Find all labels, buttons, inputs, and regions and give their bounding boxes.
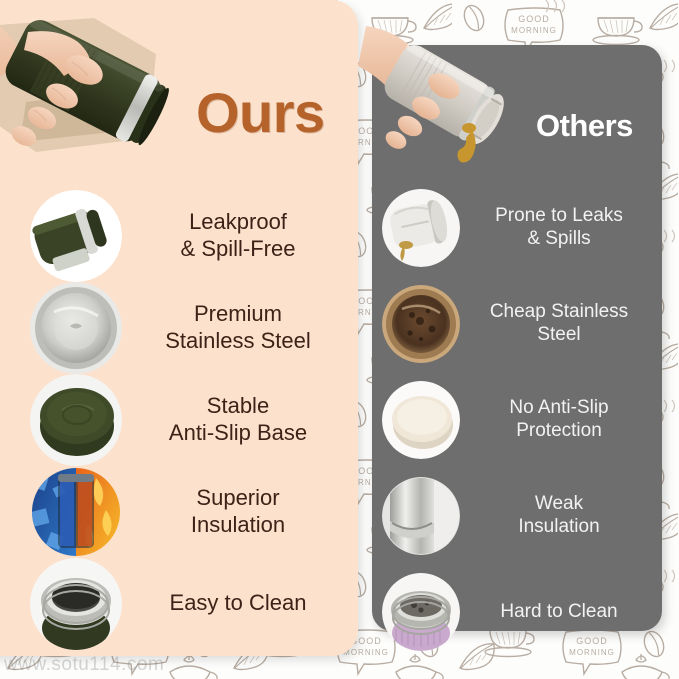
- feature-label: Stable Anti-Slip Base: [122, 393, 350, 446]
- stainless-steel-interior-thumb: [30, 282, 122, 374]
- feature-row: Easy to Clean: [30, 561, 350, 646]
- feature-label: Hard to Clean: [460, 601, 652, 624]
- thin-steel-wall-thumb: [382, 477, 460, 555]
- green-anti-slip-base-thumb: [30, 374, 122, 466]
- others-title: Others: [536, 108, 633, 144]
- ice-and-fire-insulation-thumb: [30, 466, 122, 558]
- ours-feature-list: Leakproof & Spill-Free Premium Stainless…: [30, 193, 350, 653]
- feature-label: Superior Insulation: [122, 485, 350, 538]
- feature-label: Prone to Leaks & Spills: [460, 205, 652, 251]
- feature-row: Leakproof & Spill-Free: [30, 193, 350, 278]
- ours-hero-image: [0, 4, 212, 184]
- feature-row: Stable Anti-Slip Base: [30, 377, 350, 462]
- feature-label: Easy to Clean: [122, 590, 350, 616]
- feature-label: No Anti-Slip Protection: [460, 397, 652, 443]
- others-feature-list: Prone to Leaks & Spills C: [382, 186, 652, 666]
- feature-row: Weak Insulation: [382, 474, 652, 558]
- feature-label: Cheap Stainless Steel: [460, 301, 652, 347]
- feature-row: Premium Stainless Steel: [30, 285, 350, 370]
- feature-label: Premium Stainless Steel: [122, 301, 350, 354]
- ours-title: Ours: [196, 80, 325, 145]
- plain-beige-base-thumb: [382, 381, 460, 459]
- green-lid-closeup-thumb: [30, 190, 122, 282]
- dirty-purple-opening-thumb: [382, 573, 460, 651]
- feature-row: No Anti-Slip Protection: [382, 378, 652, 462]
- feature-label: Weak Insulation: [460, 493, 652, 539]
- others-hero-image: [372, 34, 532, 180]
- feature-row: Prone to Leaks & Spills: [382, 186, 652, 270]
- wide-mouth-opening-thumb: [30, 558, 122, 650]
- feature-row: Superior Insulation: [30, 469, 350, 554]
- rusty-stained-interior-thumb: [382, 285, 460, 363]
- leaking-white-lid-thumb: [382, 189, 460, 267]
- feature-row: Hard to Clean: [382, 570, 652, 654]
- feature-row: Cheap Stainless Steel: [382, 282, 652, 366]
- feature-label: Leakproof & Spill-Free: [122, 209, 350, 262]
- watermark-text: www.sotu114.com: [4, 654, 164, 676]
